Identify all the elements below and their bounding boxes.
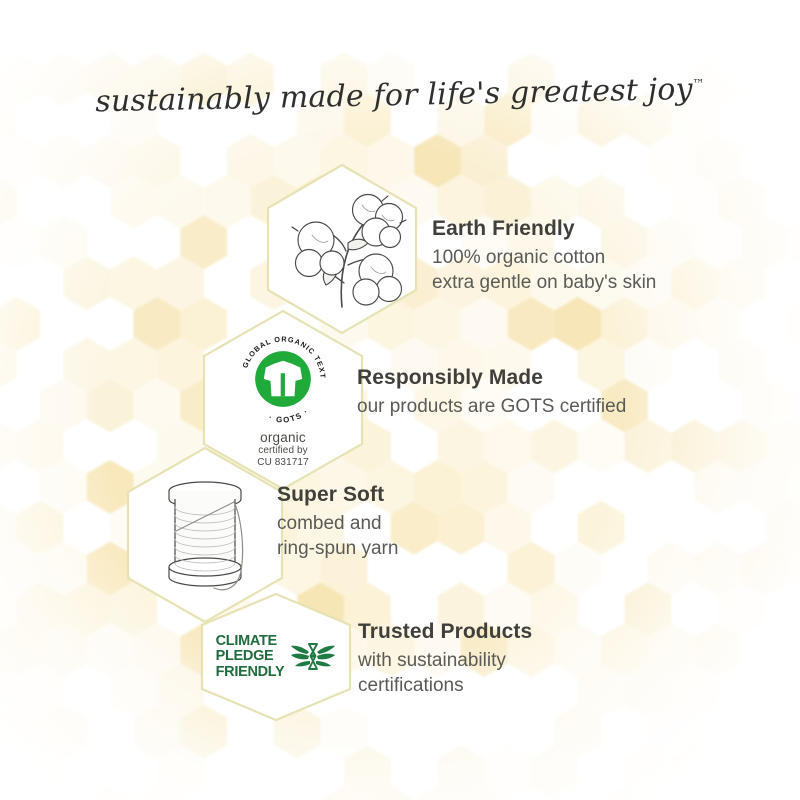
cpf-line-2: PLEDGE [216, 649, 285, 664]
feature-line: ring-spun yarn [277, 536, 398, 561]
gots-label: organic [260, 430, 306, 445]
feature-text-trusted-products: Trusted Products with sustainability cer… [358, 619, 532, 698]
cpf-line-1: CLIMATE [216, 634, 285, 649]
cpf-line-3: FRIENDLY [216, 665, 285, 680]
thread-spool-icon [142, 469, 268, 601]
feature-text-earth-friendly: Earth Friendly 100% organic cotton extra… [432, 216, 656, 295]
feature-text-responsibly-made: Responsibly Made our products are GOTS c… [357, 365, 626, 419]
feature-text-super-soft: Super Soft combed and ring-spun yarn [277, 482, 398, 561]
feature-hex-trusted-products: CLIMATE PLEDGE FRIENDLY [200, 592, 352, 722]
feature-title: Responsibly Made [357, 365, 626, 391]
feature-line: 100% organic cotton [432, 245, 656, 270]
winged-hourglass-icon [290, 637, 336, 677]
feature-line: our products are GOTS certified [357, 394, 626, 419]
cotton-branch-icon [272, 179, 412, 319]
svg-text:· GOTS ·: · GOTS · [268, 406, 311, 424]
feature-line: combed and [277, 511, 398, 536]
cpf-wordmark: CLIMATE PLEDGE FRIENDLY [216, 634, 285, 680]
climate-pledge-friendly-badge: CLIMATE PLEDGE FRIENDLY [200, 592, 352, 722]
feature-line: with sustainability [358, 648, 532, 673]
trademark-symbol: ™ [692, 77, 704, 91]
feature-title: Super Soft [277, 482, 398, 508]
gots-seal-icon: GLOBAL ORGANIC TEXTILE STANDARD · GOTS · [235, 331, 331, 427]
feature-line: certifications [358, 673, 532, 698]
feature-title: Earth Friendly [432, 216, 656, 242]
promotional-banner: sustainably made for life's greatest joy… [0, 0, 800, 800]
feature-line: extra gentle on baby's skin [432, 270, 656, 295]
feature-title: Trusted Products [358, 619, 532, 645]
